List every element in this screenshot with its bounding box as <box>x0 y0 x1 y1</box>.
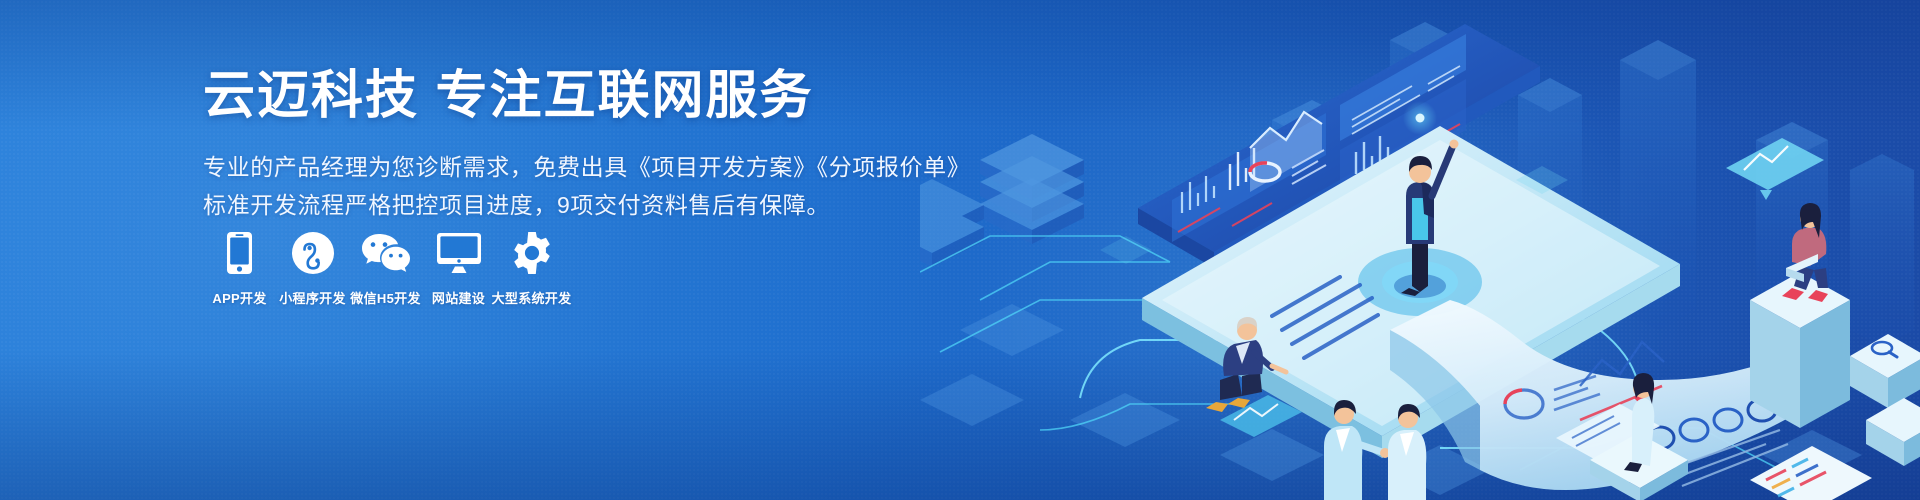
service-item-app[interactable]: APP开发 <box>203 230 276 307</box>
service-label: 小程序开发 <box>279 288 346 307</box>
hero-banner: 云迈科技 专注互联网服务 专业的产品经理为您诊断需求，免费出具《项目开发方案》《… <box>0 0 1920 500</box>
mobile-phone-icon <box>226 230 253 276</box>
subtitle-block: 专业的产品经理为您诊断需求，免费出具《项目开发方案》《分项报价单》 标准开发流程… <box>203 148 903 224</box>
service-label: 微信H5开发 <box>350 288 420 307</box>
service-label: APP开发 <box>212 288 266 307</box>
gear-icon <box>510 230 554 276</box>
service-item-miniprogram[interactable]: 小程序开发 <box>276 230 349 307</box>
mini-program-icon <box>291 230 335 276</box>
service-item-website[interactable]: 网站建设 <box>422 230 495 307</box>
service-label: 网站建设 <box>432 288 485 307</box>
service-label: 大型系统开发 <box>492 288 572 307</box>
hero-text-block: 云迈科技 专注互联网服务 专业的产品经理为您诊断需求，免费出具《项目开发方案》《… <box>203 66 903 224</box>
page-title: 云迈科技 专注互联网服务 <box>203 66 903 127</box>
wechat-icon <box>361 230 411 276</box>
subtitle-line-2: 标准开发流程严格把控项目进度，9项交付资料售后有保障。 <box>203 186 903 224</box>
service-icon-row: APP开发 小程序开发 <box>203 230 568 307</box>
service-item-system[interactable]: 大型系统开发 <box>495 230 568 307</box>
service-item-wechat[interactable]: 微信H5开发 <box>349 230 422 307</box>
monitor-icon <box>436 230 482 276</box>
subtitle-line-1: 专业的产品经理为您诊断需求，免费出具《项目开发方案》《分项报价单》 <box>203 148 903 186</box>
